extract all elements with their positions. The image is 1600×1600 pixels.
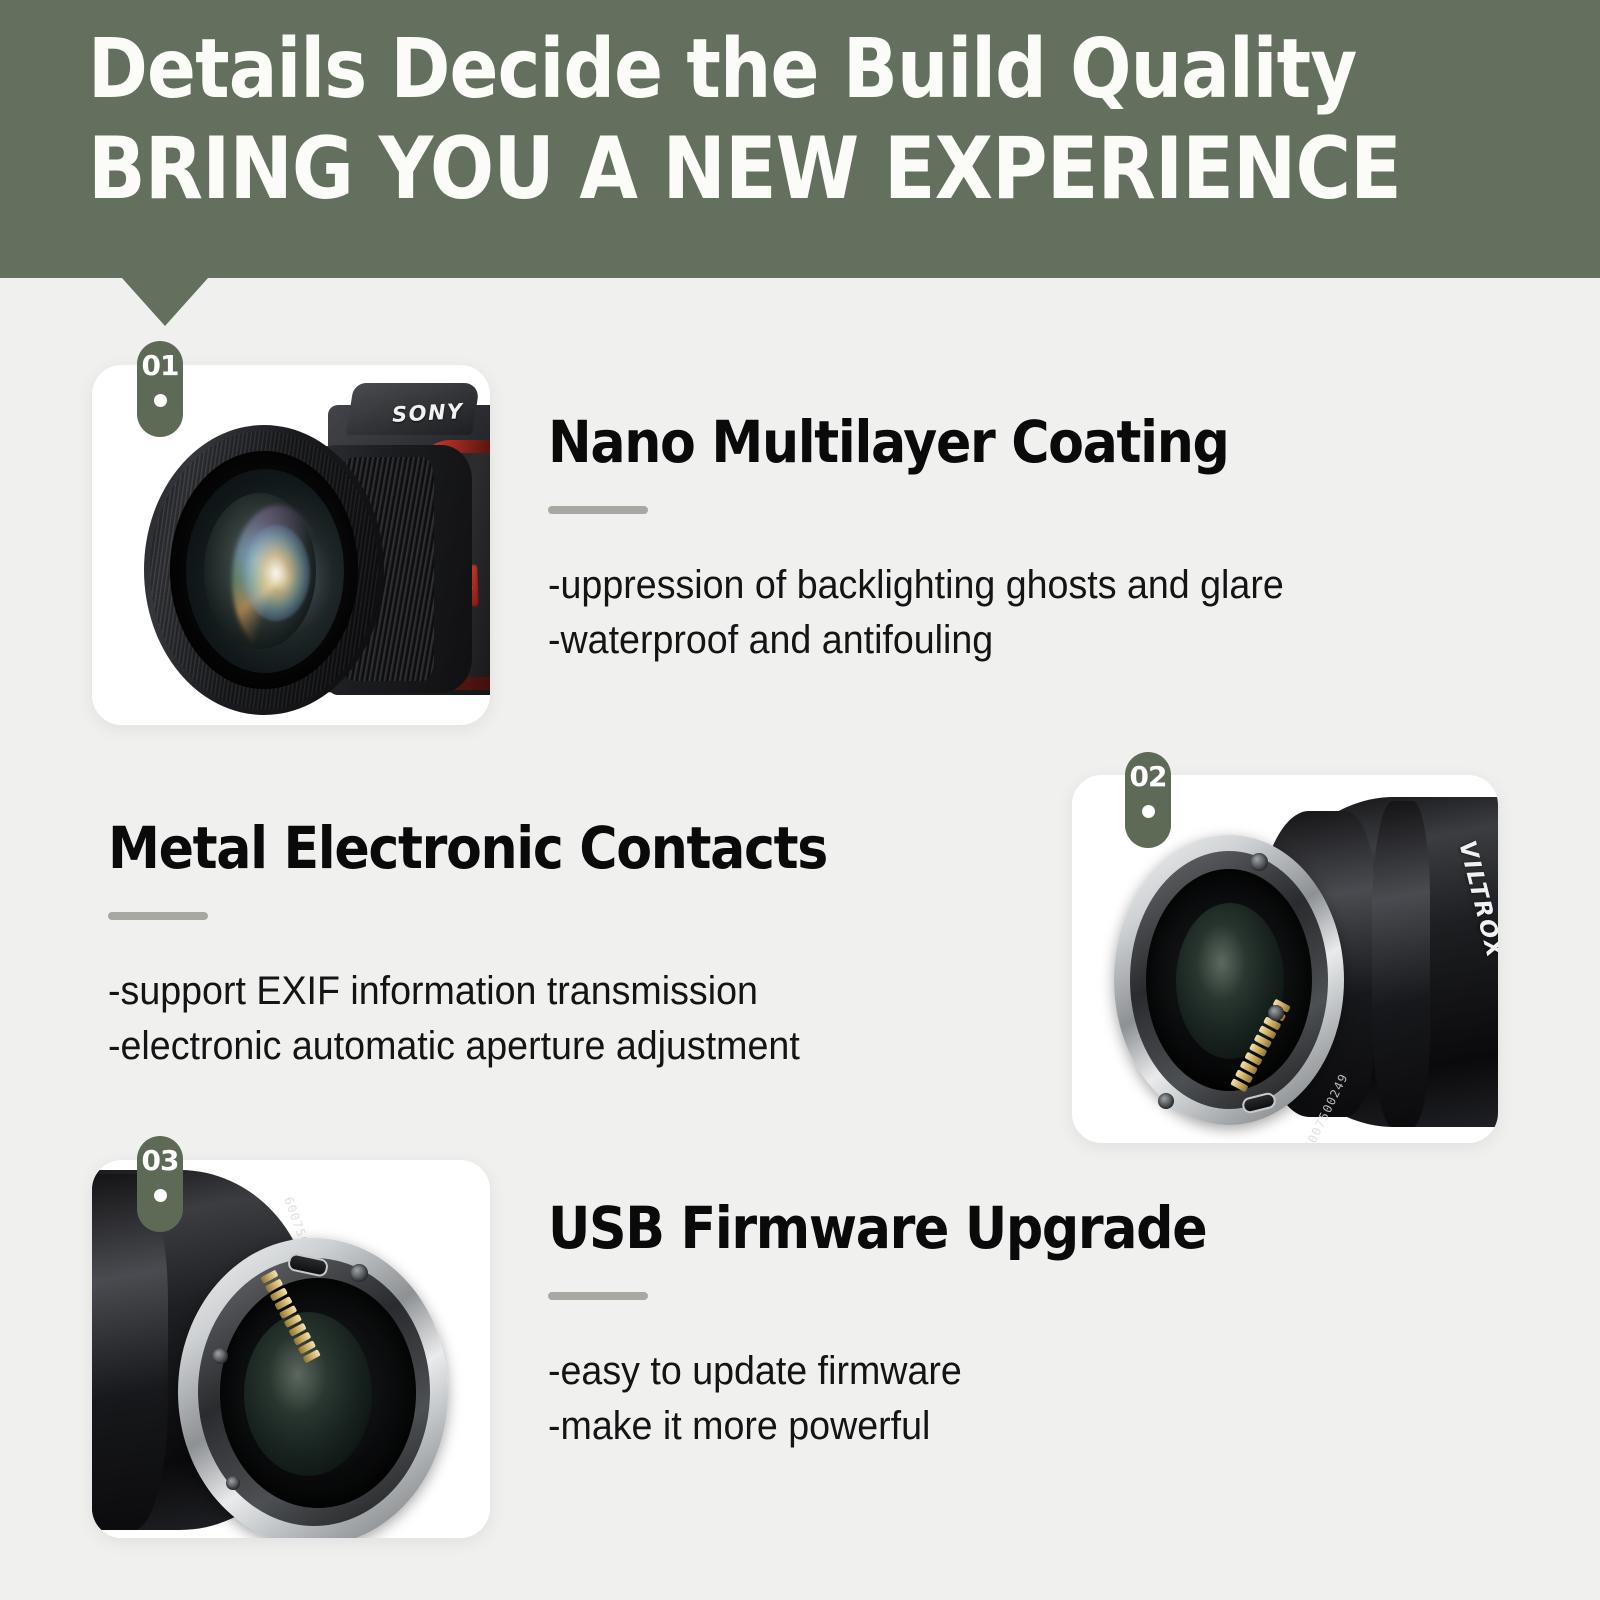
- list-item: -uppression of backlighting ghosts and g…: [548, 558, 1284, 613]
- feature-divider-02: [108, 912, 208, 920]
- step-badge-dot-icon: [154, 394, 167, 407]
- feature-bullets-01: -uppression of backlighting ghosts and g…: [548, 558, 1284, 668]
- feature-heading-03: USB Firmware Upgrade: [548, 1198, 1206, 1259]
- header-title-line-2: BRING YOU A NEW EXPERIENCE: [88, 126, 1419, 214]
- feature-heading-01: Nano Multilayer Coating: [548, 412, 1252, 473]
- feature-text-block-01: Nano Multilayer Coating -uppression of b…: [548, 412, 1331, 668]
- header-pointer-triangle: [122, 278, 208, 326]
- sony-brand-text: SONY: [391, 399, 464, 427]
- infographic-page: Details Decide the Build Quality BRING Y…: [0, 0, 1600, 1600]
- feature-text-block-02: Metal Electronic Contacts -support EXIF …: [108, 818, 907, 1074]
- step-badge-03: 03: [137, 1136, 183, 1232]
- list-item: -waterproof and antifouling: [548, 613, 1284, 668]
- step-badge-03-number: 03: [142, 1147, 179, 1175]
- header-banner: Details Decide the Build Quality BRING Y…: [0, 0, 1600, 278]
- step-badge-02: 02: [1125, 752, 1171, 848]
- list-item: -electronic automatic aperture adjustmen…: [108, 1019, 859, 1074]
- header-text-group: Details Decide the Build Quality BRING Y…: [0, 0, 1600, 213]
- step-badge-02-number: 02: [1130, 763, 1167, 791]
- feature-divider-03: [548, 1292, 648, 1300]
- step-badge-01-number: 01: [142, 352, 179, 380]
- feature-bullets-03: -easy to update firmware -make it more p…: [548, 1344, 1236, 1454]
- list-item: -make it more powerful: [548, 1399, 1236, 1454]
- header-title-line-1: Details Decide the Build Quality: [88, 28, 1419, 112]
- feature-heading-02: Metal Electronic Contacts: [108, 818, 827, 879]
- step-badge-dot-icon: [154, 1189, 167, 1202]
- feature-divider-01: [548, 506, 648, 514]
- list-item: -easy to update firmware: [548, 1344, 1236, 1399]
- feature-text-block-03: USB Firmware Upgrade -easy to update fir…: [548, 1198, 1279, 1454]
- list-item: -support EXIF information transmission: [108, 964, 859, 1019]
- step-badge-dot-icon: [1142, 805, 1155, 818]
- step-badge-01: 01: [137, 341, 183, 437]
- feature-bullets-02: -support EXIF information transmission -…: [108, 964, 859, 1074]
